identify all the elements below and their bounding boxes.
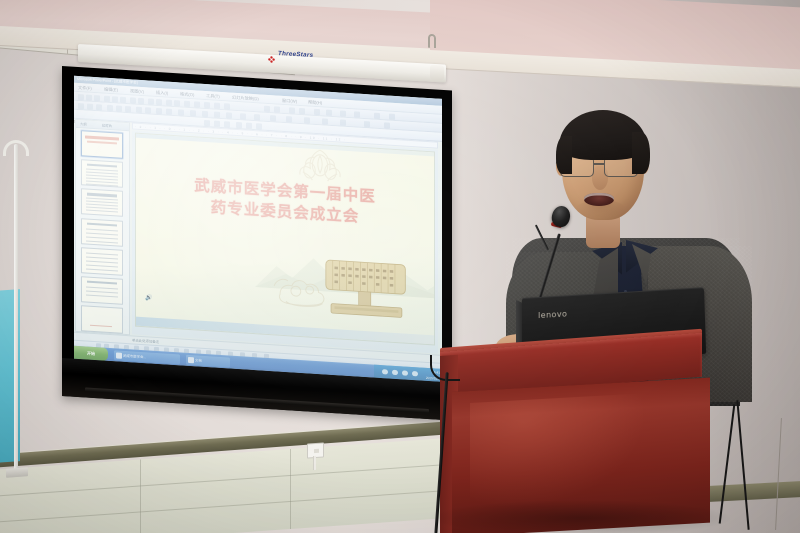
screen-hook <box>428 34 436 48</box>
speaker-audio-icon[interactable]: 🔊 <box>145 294 152 301</box>
thumbnail-slide-6[interactable]: 6 <box>81 276 123 305</box>
powerpoint-application: Microsoft PowerPoint - [武威市医学会] 文件(F) 编辑… <box>74 76 442 382</box>
menu-view[interactable]: 视图(V) <box>130 88 144 95</box>
hair-left-side <box>556 136 572 174</box>
conference-room-scene: ThreeStars Microsoft PowerPoint - [武威市医学… <box>0 0 800 533</box>
podium-floor-shadow <box>430 500 730 533</box>
thumbnail-slide-7[interactable]: 7 <box>81 305 123 334</box>
menu-help[interactable]: 帮助(H) <box>308 99 322 106</box>
hair-right-side <box>632 132 650 174</box>
stand-pole <box>14 144 18 474</box>
slide-thumbnail-pane[interactable]: 大纲 幻灯片 1 2 <box>75 119 130 335</box>
menu-slideshow[interactable]: 幻灯片放映(D) <box>232 94 259 102</box>
threestars-logo-icon <box>268 50 275 57</box>
mouth <box>584 193 614 206</box>
menu-edit[interactable]: 编辑(E) <box>104 86 118 93</box>
housing-end-cap <box>430 65 444 81</box>
projector-screen: Microsoft PowerPoint - [武威市医学会] 文件(F) 编辑… <box>62 66 452 421</box>
thumbnail-list[interactable]: 1 2 3 <box>81 130 123 332</box>
menu-window[interactable]: 窗口(W) <box>282 97 297 104</box>
thumbnail-slide-2[interactable]: 2 <box>81 159 123 188</box>
current-slide[interactable]: 武威市医学会第一届中医 药专业委员会成立会 🔊 <box>135 133 435 346</box>
slide-editing-area[interactable]: 武威市医学会第一届中医 药专业委员会成立会 🔊 <box>132 130 438 353</box>
outlet-conduit <box>313 456 316 470</box>
tab-slides[interactable]: 幻灯片 <box>102 123 112 129</box>
menu-file[interactable]: 文件(F) <box>78 85 92 92</box>
stand-base <box>6 467 28 478</box>
bamboo-scroll-illustration <box>306 248 425 325</box>
lenovo-logo: lenovo <box>538 309 567 320</box>
tab-outline[interactable]: 大纲 <box>80 121 87 126</box>
slide-title[interactable]: 武威市医学会第一届中医 药专业委员会成立会 <box>148 173 422 231</box>
screen-surface: Microsoft PowerPoint - [武威市医学会] 文件(F) 编辑… <box>74 76 442 382</box>
glasses-bridge <box>594 163 605 165</box>
menu-tools[interactable]: 工具(T) <box>206 93 220 100</box>
thumbnail-slide-3[interactable]: 3 <box>81 189 123 218</box>
menu-format[interactable]: 格式(O) <box>180 91 194 98</box>
thumbnail-slide-5[interactable]: 5 <box>81 247 123 276</box>
thumbnail-slide-4[interactable]: 4 <box>81 218 123 247</box>
thumbnail-slide-1[interactable]: 1 <box>81 130 123 159</box>
menu-insert[interactable]: 插入(I) <box>156 89 168 96</box>
